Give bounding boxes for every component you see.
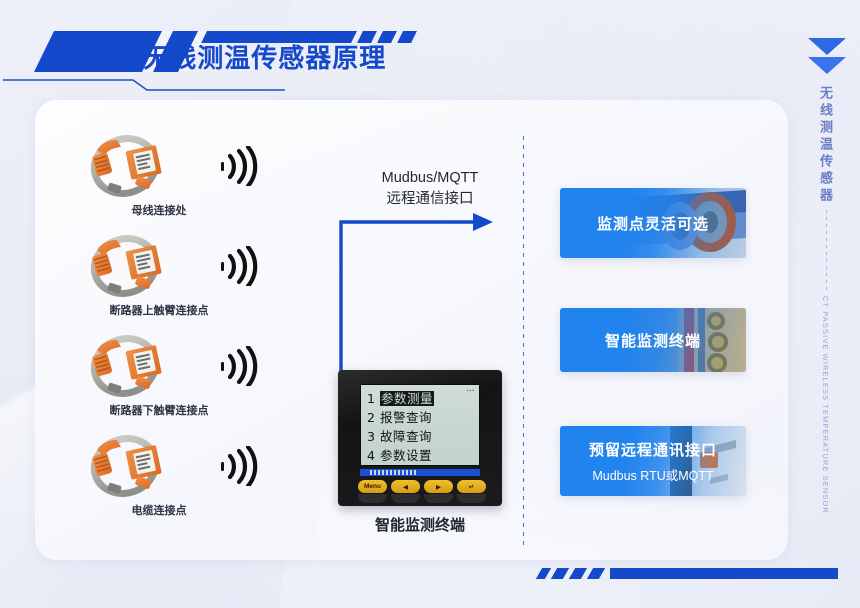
wireless-temperature-sensor-icon [83,228,179,300]
protocol-label: Mudbus/MQTT [335,168,525,189]
lcd-item-number: 4 [367,446,380,465]
card-subtitle: Mudbus RTU或MQTT [592,465,713,484]
left-arrow-button[interactable]: ◀ [391,480,420,493]
sensor-label: 断路器下触臂连接点 [69,402,249,418]
section-divider [523,136,524,546]
wireless-signal-icon [219,246,261,286]
wireless-signal-icon [219,446,261,486]
sensor-label: 断路器上触臂连接点 [69,302,249,318]
lcd-menu-item-3[interactable]: 3故障查询 [367,427,479,446]
sensor-item-2: 断路器上触臂连接点 [69,228,269,328]
chevron-down-icon [808,38,846,76]
lcd-item-text: 故障查询 [380,429,432,444]
lcd-item-number: 3 [367,427,380,446]
bottom-bar-stripe-1 [587,568,605,579]
header-underline-decoration [0,76,440,96]
lcd-item-text: 参数设置 [380,448,432,463]
card-title: 预留远程通讯接口 [589,439,717,460]
lcd-item-number: 1 [367,389,380,408]
main-content-panel: 母线连接处 断路器上触臂连接点 [35,100,788,560]
device-lcd-screen: ▪▪▪ 1参数测量2报警查询3故障查询4参数设置 [360,384,480,466]
lcd-item-text: 参数测量 [380,391,434,406]
monitoring-terminal-device: ▪▪▪ 1参数测量2报警查询3故障查询4参数设置 Menu◀▶↵ 智能监测终端 [338,370,502,506]
device-strip-segments [370,470,416,475]
sensor-label: 母线连接处 [69,202,249,218]
sensor-item-3: 断路器下触臂连接点 [69,328,269,428]
lcd-item-number: 2 [367,408,380,427]
wireless-temperature-sensor-icon [83,128,179,200]
bottom-bar-main [610,568,838,579]
bottom-bar-stripe-2 [569,568,587,579]
page-header: 三.无线测温传感器原理 [0,0,860,100]
device-button-shadows [358,494,486,503]
lcd-menu-item-4[interactable]: 4参数设置 [367,446,479,465]
device-caption: 智能监测终端 [330,514,510,535]
card-title: 智能监测终端 [605,330,701,351]
wireless-signal-icon [219,346,261,386]
side-ribbon: 无线测温传感器 CT PASSIVE WIRELESS TEMPERATURE … [794,0,860,608]
lcd-menu-item-1[interactable]: 1参数测量 [367,389,479,408]
feature-card-2[interactable]: 智能监测终端 [560,308,746,372]
feature-card-1[interactable]: 监测点灵活可选 [560,188,746,258]
card-title: 监测点灵活可选 [597,213,709,234]
menu-button[interactable]: Menu [358,480,387,493]
lcd-menu-item-2[interactable]: 2报警查询 [367,408,479,427]
right-arrow-button[interactable]: ▶ [424,480,453,493]
device-button-row[interactable]: Menu◀▶↵ [358,480,486,493]
enter-button[interactable]: ↵ [457,480,486,493]
ribbon-english-label: CT PASSIVE WIRELESS TEMPERATURE SENSOR [821,296,830,514]
sensor-item-1: 母线连接处 [69,128,269,228]
lcd-status-dots: ▪▪▪ [467,388,475,394]
arrow-right-icon [297,200,497,390]
lcd-item-text: 报警查询 [380,410,432,425]
wireless-temperature-sensor-icon [83,428,179,500]
bottom-bar-stripe-3 [551,568,569,579]
page-title: 三.无线测温传感器原理 [108,38,386,75]
bottom-bar-decoration [538,568,838,580]
bottom-bar-stripe-4 [536,568,551,579]
wireless-signal-icon [219,146,261,186]
ribbon-divider [826,210,827,290]
sensor-label: 电缆连接点 [69,502,249,518]
wireless-temperature-sensor-icon [83,328,179,400]
sensor-item-4: 电缆连接点 [69,428,269,528]
ribbon-chinese-label: 无线测温传感器 [816,86,835,205]
feature-card-3[interactable]: 预留远程通讯接口Mudbus RTU或MQTT [560,426,746,496]
